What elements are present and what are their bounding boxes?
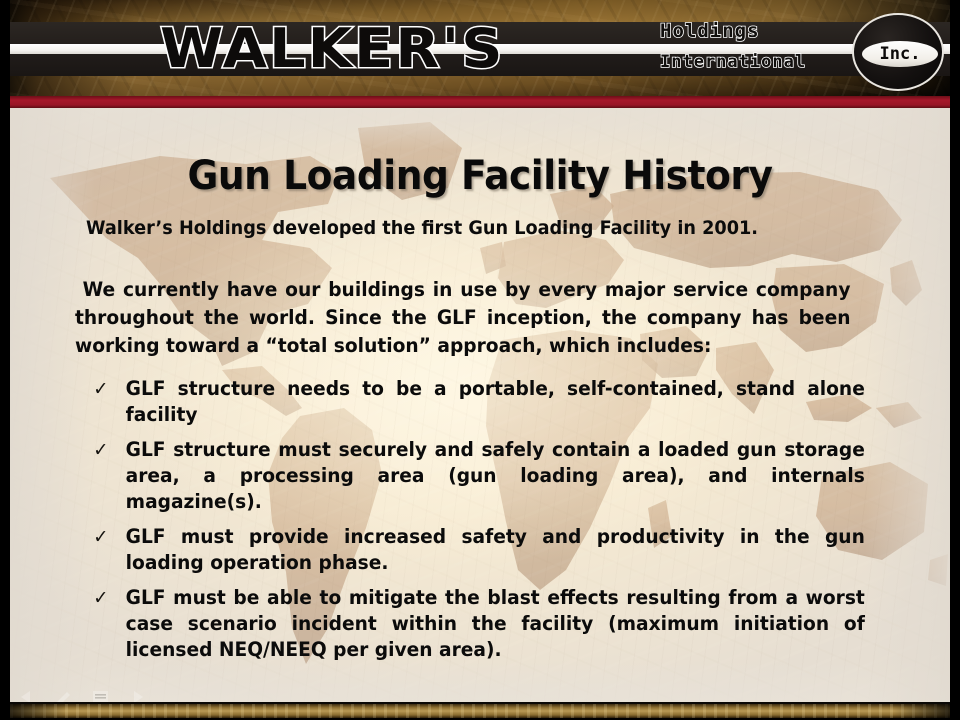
- list-item-text: GLF structure needs to be a portable, se…: [126, 376, 865, 428]
- list-item: ✓ GLF must be able to mitigate the blast…: [76, 585, 865, 663]
- check-icon: ✓: [93, 376, 108, 402]
- page-title: Gun Loading Facility History: [38, 153, 922, 199]
- slide-content: Gun Loading Facility History Walker’s Ho…: [10, 108, 950, 702]
- check-icon: ✓: [93, 585, 108, 611]
- bottom-gold-strip: [10, 704, 950, 718]
- bottom-strip-edge-shading: [10, 704, 950, 718]
- company-lockup: Holdings International: [660, 20, 860, 82]
- bullet-list: ✓ GLF structure needs to be a portable, …: [76, 376, 902, 672]
- frame-left-border: [0, 0, 10, 720]
- red-accent-stripe: [0, 96, 960, 108]
- check-icon: ✓: [93, 524, 108, 550]
- frame-right-border: [950, 0, 960, 720]
- list-item: ✓ GLF must provide increased safety and …: [76, 524, 865, 576]
- list-item: ✓ GLF structure must securely and safely…: [76, 437, 865, 515]
- list-item-text: GLF must be able to mitigate the blast e…: [126, 585, 865, 663]
- inc-badge-label: Inc.: [862, 41, 938, 67]
- slide-body: Gun Loading Facility History Walker’s Ho…: [10, 108, 950, 702]
- inc-badge: Inc.: [852, 13, 944, 91]
- body-paragraph: We currently have our buildings in use b…: [75, 276, 850, 360]
- list-item-text: GLF structure must securely and safely c…: [126, 437, 865, 515]
- lockup-holdings-text: Holdings: [660, 20, 760, 42]
- list-item: ✓ GLF structure needs to be a portable, …: [76, 376, 865, 428]
- check-icon: ✓: [93, 437, 108, 463]
- walkers-wordmark: WALKER'S: [160, 18, 690, 80]
- intro-sentence: Walker’s Holdings developed the first Gu…: [86, 217, 830, 239]
- company-banner: WALKER'S Holdings International Inc.: [0, 0, 960, 96]
- list-item-text: GLF must provide increased safety and pr…: [126, 524, 865, 576]
- lockup-international-text: International: [660, 52, 806, 72]
- presentation-slide: WALKER'S Holdings International Inc.: [0, 0, 960, 720]
